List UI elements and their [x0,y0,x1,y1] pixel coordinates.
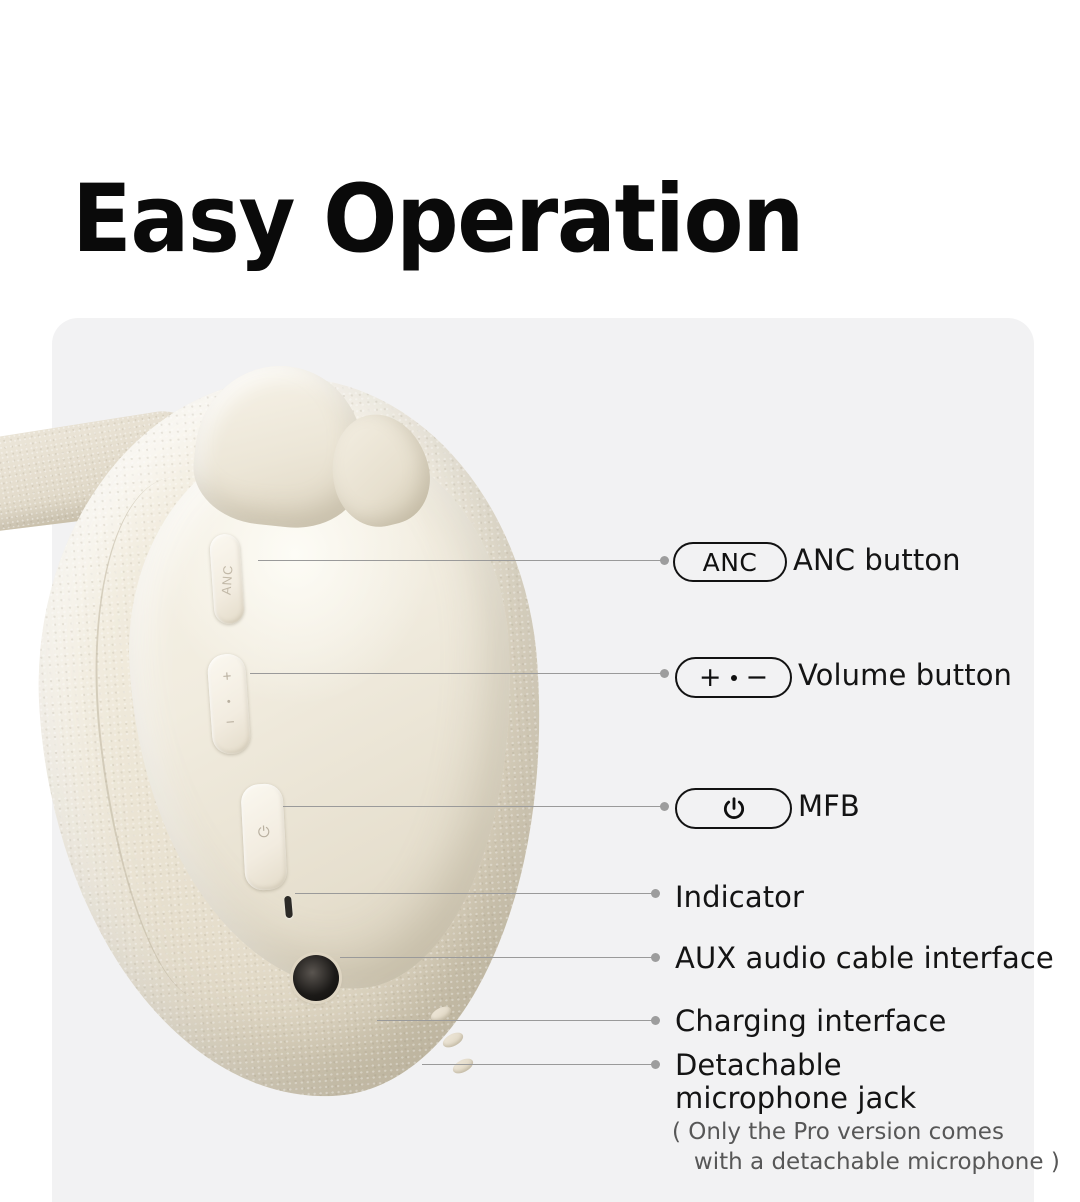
badge-volume-glyphs: + − [699,664,768,691]
badge-volume-dot [731,675,737,681]
leader-dot-volume [660,669,669,678]
badge-volume-plus: + [699,664,722,691]
leader-dot-microphone [651,1060,660,1069]
leader-dot-charging [651,1016,660,1025]
leader-line-charging [377,1020,653,1021]
leader-dot-indicator [651,889,660,898]
leader-dot-anc [660,556,669,565]
callout-label-charging: Charging interface [675,1003,946,1039]
callout-label-mfb: MFB [798,788,860,824]
badge-volume: + − [675,657,792,698]
leader-line-indicator [295,893,653,894]
callout-label-microphone-line2: microphone jack [675,1080,916,1116]
leader-dot-mfb [660,802,669,811]
leader-line-mfb [283,806,664,807]
leader-line-anc [258,560,664,561]
content-card [52,318,1034,1202]
infographic-page: Easy Operation ANC + • − ⏻ [0,0,1080,1202]
badge-mfb [675,788,792,829]
callout-label-microphone-line1: Detachable [675,1047,842,1083]
callout-label-indicator: Indicator [675,879,804,915]
leader-line-aux [340,957,653,958]
badge-volume-minus: − [746,664,769,691]
leader-line-microphone [422,1064,653,1065]
callout-label-aux: AUX audio cable interface [675,940,1054,976]
note-line-2: with a detachable microphone ) [672,1146,1060,1178]
power-icon [721,796,747,822]
callout-label-anc: ANC button [793,542,961,578]
badge-anc-text: ANC [703,548,758,577]
leader-dot-aux [651,953,660,962]
leader-line-volume [250,673,664,674]
note-line-1: ( Only the Pro version comes [672,1116,1004,1148]
badge-anc: ANC [673,542,787,582]
callout-label-volume: Volume button [798,657,1012,693]
page-title: Easy Operation [72,165,803,275]
